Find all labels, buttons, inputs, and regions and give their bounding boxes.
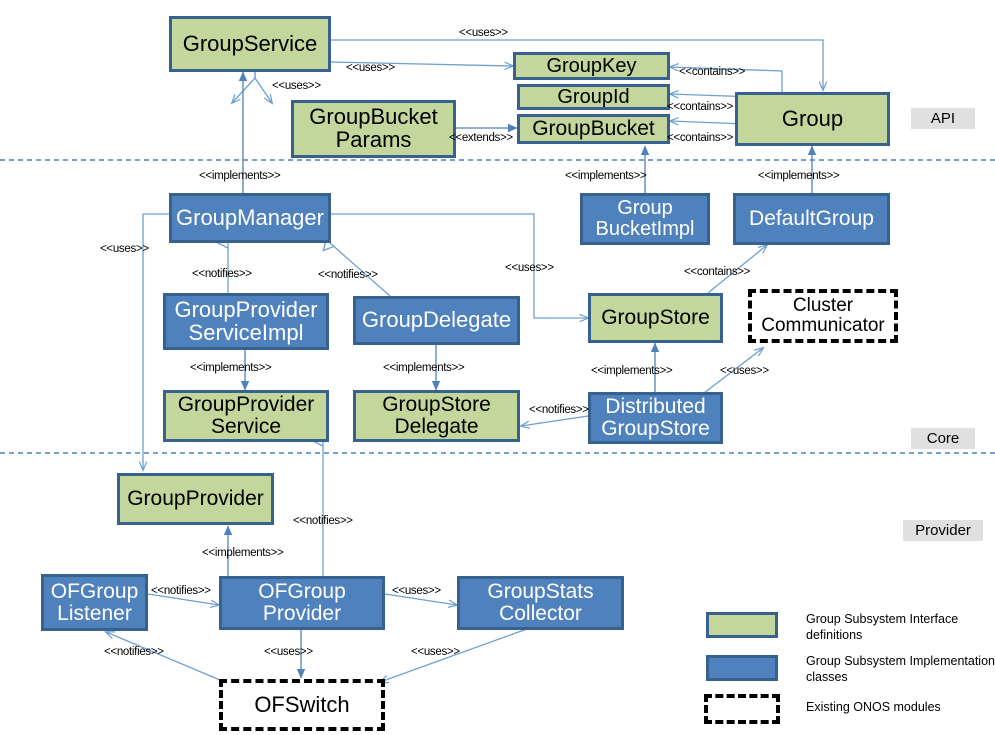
edge-label-implements-dgs-store: <<implements>>	[591, 365, 672, 377]
edge-label-uses-stats-switch: <<uses>>	[411, 646, 460, 658]
node-label: DistributedGroupStore	[591, 396, 720, 440]
node-default-group[interactable]: DefaultGroup	[733, 193, 890, 245]
node-label: GroupDelegate	[356, 309, 517, 332]
legend-text-external: Existing ONOS modules	[806, 700, 995, 716]
layer-tag-provider: Provider	[903, 520, 983, 541]
node-group-bucket[interactable]: GroupBucket	[517, 114, 670, 144]
edge-label-extends-bucketparams-bucket: <<extends>>	[449, 132, 513, 144]
edge-label-implements-defaultgroup: <<implements>>	[758, 170, 839, 182]
node-label: GroupStore	[591, 307, 720, 329]
node-distributed-group-store[interactable]: DistributedGroupStore	[588, 392, 723, 444]
node-label: GroupStoreDelegate	[356, 394, 517, 438]
node-of-group-provider[interactable]: OFGroupProvider	[219, 576, 385, 630]
edge-label-notifies-listener-provider: <<notifies>>	[151, 585, 211, 597]
node-label: GroupBucketParams	[294, 106, 453, 152]
node-label: GroupStatsCollector	[460, 581, 621, 625]
edge-label-implements-bucketimpl: <<implements>>	[565, 170, 646, 182]
edge-label-contains-group-key: <<contains>>	[679, 66, 745, 78]
node-label: OFGroupListener	[44, 581, 145, 625]
node-group-key[interactable]: GroupKey	[513, 52, 670, 80]
edge-label-uses-manager-provider: <<uses>>	[100, 243, 149, 255]
node-group-manager[interactable]: GroupManager	[169, 193, 331, 243]
node-label: GroupManager	[172, 207, 328, 230]
node-group-store[interactable]: GroupStore	[588, 293, 723, 343]
node-label: GroupBucketImpl	[583, 198, 707, 240]
node-label: GroupId	[520, 87, 667, 108]
legend-swatch-interface	[706, 612, 778, 638]
edge-label-notifies-switch-listener: <<notifies>>	[104, 646, 164, 658]
edge-label-implements-manager-service: <<implements>>	[199, 170, 280, 182]
edge-label-contains-group-bucket: <<contains>>	[667, 132, 733, 144]
architecture-diagram: <<uses>> <<uses>> <<uses>> <<extends>> <…	[0, 0, 995, 735]
edge-label-uses-manager-store: <<uses>>	[505, 262, 554, 274]
edge-label-contains-store-defaultgroup: <<contains>>	[684, 266, 750, 278]
node-of-group-listener[interactable]: OFGroupListener	[41, 574, 148, 631]
node-label: GroupProviderServiceImpl	[166, 299, 326, 345]
edge-label-implements-gpsi-gps: <<implements>>	[190, 362, 271, 374]
edge-label-uses-service-bucketparams: <<uses>>	[272, 80, 321, 92]
node-label: GroupProviderService	[166, 394, 326, 438]
layer-tag-api: API	[911, 108, 975, 129]
node-label: GroupKey	[516, 56, 667, 77]
edge-label-implements-ofgp-provider: <<implements>>	[202, 547, 283, 559]
layer-tag-core: Core	[911, 428, 975, 449]
node-group-provider-service[interactable]: GroupProviderService	[163, 390, 329, 442]
node-label: GroupBucket	[520, 118, 667, 140]
node-group-id[interactable]: GroupId	[517, 84, 670, 110]
node-group[interactable]: Group	[735, 92, 890, 146]
node-group-bucket-impl[interactable]: GroupBucketImpl	[580, 193, 710, 245]
edge-label-uses-service-key: <<uses>>	[346, 62, 395, 74]
node-label: ClusterCommunicator	[752, 296, 894, 336]
node-label: Group	[738, 108, 887, 131]
edge-label-uses-ofgp-stats: <<uses>>	[392, 585, 441, 597]
edge-label-notifies-dgs-gsd: <<notifies>>	[529, 404, 589, 416]
legend-swatch-external	[704, 694, 780, 724]
node-label: OFSwitch	[223, 694, 381, 717]
node-group-service[interactable]: GroupService	[169, 16, 331, 72]
edge-label-notifies-gpsi-manager: <<notifies>>	[192, 268, 252, 280]
node-label: GroupProvider	[120, 488, 271, 510]
legend-swatch-implementation	[706, 655, 778, 681]
node-label: OFGroupProvider	[222, 581, 382, 625]
edge-label-notifies-delegate-manager: <<notifies>>	[318, 269, 378, 281]
node-of-switch[interactable]: OFSwitch	[219, 679, 385, 731]
node-cluster-communicator[interactable]: ClusterCommunicator	[748, 289, 898, 343]
edge-label-uses-dgs-cluster: <<uses>>	[720, 365, 769, 377]
edge-label-uses-service-group: <<uses>>	[459, 27, 508, 39]
node-group-provider-service-impl[interactable]: GroupProviderServiceImpl	[163, 293, 329, 350]
node-group-delegate[interactable]: GroupDelegate	[353, 296, 520, 345]
node-label: GroupService	[172, 33, 328, 56]
node-label: DefaultGroup	[736, 208, 887, 230]
edge-label-contains-group-id: <<contains>>	[667, 101, 733, 113]
node-group-provider[interactable]: GroupProvider	[117, 473, 274, 525]
edge-notifies-dgs-gsd	[521, 416, 588, 426]
node-group-bucket-params[interactable]: GroupBucketParams	[291, 100, 456, 158]
node-group-store-delegate[interactable]: GroupStoreDelegate	[353, 390, 520, 442]
edge-label-notifies-ofgp-gps: <<notifies>>	[293, 515, 353, 527]
legend-text-interface: Group Subsystem Interface definitions	[806, 612, 995, 643]
legend-text-implementation: Group Subsystem Implementation classes	[806, 654, 995, 685]
edge-label-uses-ofgp-switch: <<uses>>	[264, 646, 313, 658]
node-group-stats-collector[interactable]: GroupStatsCollector	[457, 576, 624, 630]
edge-label-implements-delegate-gsd: <<implements>>	[383, 362, 464, 374]
